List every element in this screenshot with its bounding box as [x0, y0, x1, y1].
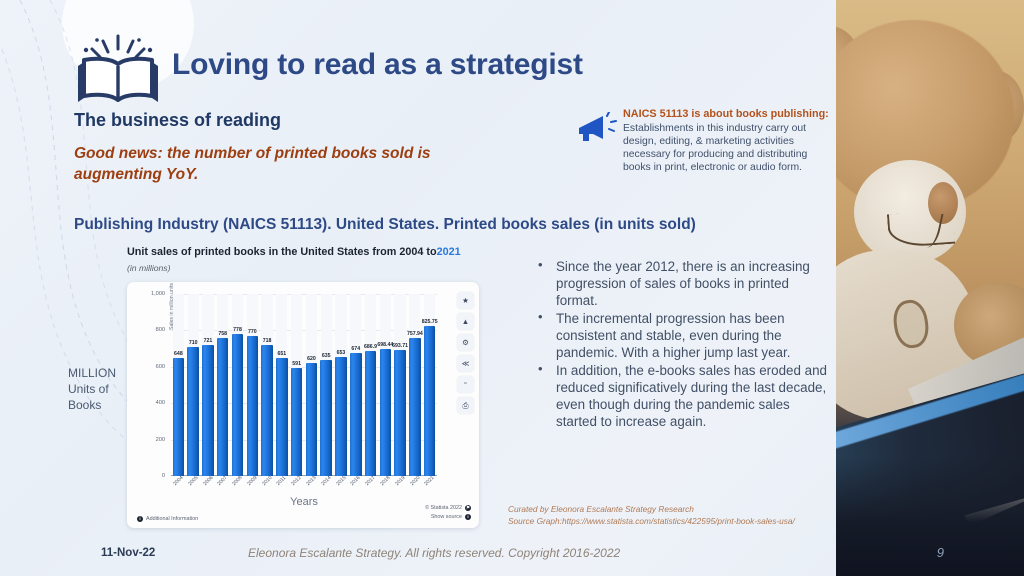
- bar-column[interactable]: 770: [245, 294, 260, 476]
- bar[interactable]: 721: [202, 345, 214, 476]
- bar[interactable]: 778: [232, 334, 244, 476]
- bar-value-label: 693.71: [392, 343, 408, 349]
- bar-column[interactable]: 620: [304, 294, 319, 476]
- y-tick-label: 400: [131, 400, 165, 406]
- bar-value-label: 653: [337, 350, 346, 356]
- chart-title-text: Unit sales of printed books in the Unite…: [127, 246, 437, 258]
- chart-plot-area: Sales in million units 02004006008001,00…: [171, 294, 437, 476]
- bar-value-label: 778: [233, 327, 242, 333]
- share-icon[interactable]: ≪: [457, 355, 474, 372]
- bar-value-label: 635: [322, 353, 331, 359]
- y-tick-label: 0: [131, 473, 165, 479]
- bar-column[interactable]: 651: [274, 294, 289, 476]
- open-book-icon: [70, 34, 166, 106]
- bar-value-label: 710: [189, 340, 198, 346]
- chart-title: Unit sales of printed books in the Unite…: [127, 246, 461, 258]
- bar[interactable]: 758: [217, 338, 229, 476]
- bar[interactable]: 710: [187, 347, 199, 476]
- bar-value-label: 620: [307, 356, 316, 362]
- lede-statement: Good news: the number of printed books s…: [74, 144, 504, 185]
- bar-value-label: 591: [292, 361, 301, 367]
- bar[interactable]: 718: [261, 345, 273, 476]
- bar[interactable]: 648: [173, 358, 185, 476]
- bullet-item: The incremental progression has been con…: [534, 310, 834, 361]
- bullet-item: In addition, the e-books sales has erode…: [534, 362, 834, 430]
- bar-value-label: 651: [278, 351, 287, 357]
- chart-toolbar[interactable]: ★▲⚙≪“⎙: [457, 292, 474, 414]
- show-source-label: Show source: [431, 513, 462, 522]
- bar-column[interactable]: 674: [348, 294, 363, 476]
- bar[interactable]: 651: [276, 358, 288, 476]
- bar[interactable]: 770: [247, 336, 259, 476]
- million-units-label: MILLION Units of Books: [68, 365, 122, 414]
- bar-value-label: 674: [351, 346, 360, 352]
- bar-column[interactable]: 778: [230, 294, 245, 476]
- statista-copyright-label: © Statista 2022: [425, 504, 462, 513]
- bar-value-label: 770: [248, 329, 257, 335]
- slide-canvas: 9 Loving to read as a strategist The bus…: [0, 0, 1024, 576]
- bar-column[interactable]: 718: [260, 294, 275, 476]
- additional-information-label: Additional Information: [146, 516, 198, 522]
- bar-value-label: 718: [263, 338, 272, 344]
- bar-value-label: 721: [204, 338, 213, 344]
- page-title: Loving to read as a strategist: [172, 48, 583, 82]
- chart-footer: i Additional Information © Statista 2022…: [137, 504, 471, 522]
- chart-footer-right: © Statista 2022 ⚑ Show source i: [425, 504, 471, 522]
- bar[interactable]: 825.75: [424, 326, 436, 476]
- naics-callout: NAICS 51113 is about books publishing: E…: [575, 108, 833, 174]
- favorite-icon[interactable]: ★: [457, 292, 474, 309]
- statista-chart-card[interactable]: Sales in million units 02004006008001,00…: [127, 282, 479, 528]
- bar-value-label: 825.75: [422, 319, 438, 325]
- naics-callout-text: NAICS 51113 is about books publishing: E…: [623, 108, 833, 174]
- x-axis-tick-labels: 2004200520062007200820092010201120122013…: [171, 478, 437, 484]
- naics-callout-body: Establishments in this industry carry ou…: [623, 123, 807, 173]
- bar-column[interactable]: 635: [319, 294, 334, 476]
- bar-value-label: 648: [174, 351, 183, 357]
- bar-value-label: 757.94: [407, 331, 423, 337]
- bar[interactable]: 591: [291, 368, 303, 476]
- bar-column[interactable]: 721: [201, 294, 216, 476]
- slide-copyright: Eleonora Escalante Strategy. All rights …: [248, 546, 620, 560]
- teddy-bear-reading-photo: [836, 0, 1024, 576]
- naics-callout-lead: NAICS 51113 is about books publishing:: [623, 108, 829, 120]
- bar-series: 6487107217587787707186515916206356536746…: [171, 294, 437, 476]
- bar-column[interactable]: 591: [289, 294, 304, 476]
- insight-bullet-list: Since the year 2012, there is an increas…: [534, 258, 834, 431]
- info-icon-source: i: [465, 514, 471, 520]
- bar-column[interactable]: 825.75: [422, 294, 437, 476]
- slide-date: 11-Nov-22: [101, 547, 155, 559]
- bar-column[interactable]: 710: [186, 294, 201, 476]
- megaphone-icon: [575, 112, 617, 146]
- chart-units-note: (in millions): [127, 263, 170, 273]
- show-source-link[interactable]: Show source i: [425, 513, 471, 522]
- additional-information-link[interactable]: i Additional Information: [137, 516, 198, 522]
- bar[interactable]: 686.9: [365, 351, 377, 476]
- bar-column[interactable]: 693.71: [393, 294, 408, 476]
- quote-icon[interactable]: “: [457, 376, 474, 393]
- y-tick-label: 200: [131, 437, 165, 443]
- bar-column[interactable]: 686.9: [363, 294, 378, 476]
- bar[interactable]: 693.71: [394, 350, 406, 476]
- bar[interactable]: 635: [320, 360, 332, 476]
- y-tick-label: 600: [131, 364, 165, 370]
- bar-column[interactable]: 648: [171, 294, 186, 476]
- chart-section-heading: Publishing Industry (NAICS 51113). Unite…: [74, 216, 696, 234]
- bar-value-label: 698.44: [377, 342, 393, 348]
- curated-source-note: Curated by Eleonora Escalante Strategy R…: [508, 503, 848, 528]
- bar-value-label: 686.9: [364, 344, 377, 350]
- y-tick-label: 1,000: [131, 291, 165, 297]
- bar[interactable]: 698.44: [380, 349, 392, 476]
- bullet-item: Since the year 2012, there is an increas…: [534, 258, 834, 309]
- bar[interactable]: 620: [306, 363, 318, 476]
- curated-line-1: Curated by Eleonora Escalante Strategy R…: [508, 503, 848, 515]
- bar-value-label: 758: [218, 331, 227, 337]
- photo-vignette: [836, 456, 1024, 576]
- bar[interactable]: 674: [350, 353, 362, 476]
- info-icon: i: [137, 516, 143, 522]
- bar-column[interactable]: 698.44: [378, 294, 393, 476]
- section-subtitle: The business of reading: [74, 110, 281, 131]
- flag-icon: ⚑: [465, 505, 471, 511]
- bar-column[interactable]: 757.94: [408, 294, 423, 476]
- bar-column[interactable]: 758: [215, 294, 230, 476]
- gear-icon[interactable]: ⚙: [457, 334, 474, 351]
- chart-title-year: 2021: [437, 246, 461, 258]
- bell-icon[interactable]: ▲: [457, 313, 474, 330]
- bar[interactable]: 757.94: [409, 338, 421, 476]
- statista-copyright: © Statista 2022 ⚑: [425, 504, 471, 513]
- curated-line-2: Source Graph:https://www.statista.com/st…: [508, 515, 848, 527]
- page-number: 9: [937, 545, 944, 560]
- y-tick-label: 800: [131, 327, 165, 333]
- bar-column[interactable]: 653: [334, 294, 349, 476]
- print-icon[interactable]: ⎙: [457, 397, 474, 414]
- bar[interactable]: 653: [335, 357, 347, 476]
